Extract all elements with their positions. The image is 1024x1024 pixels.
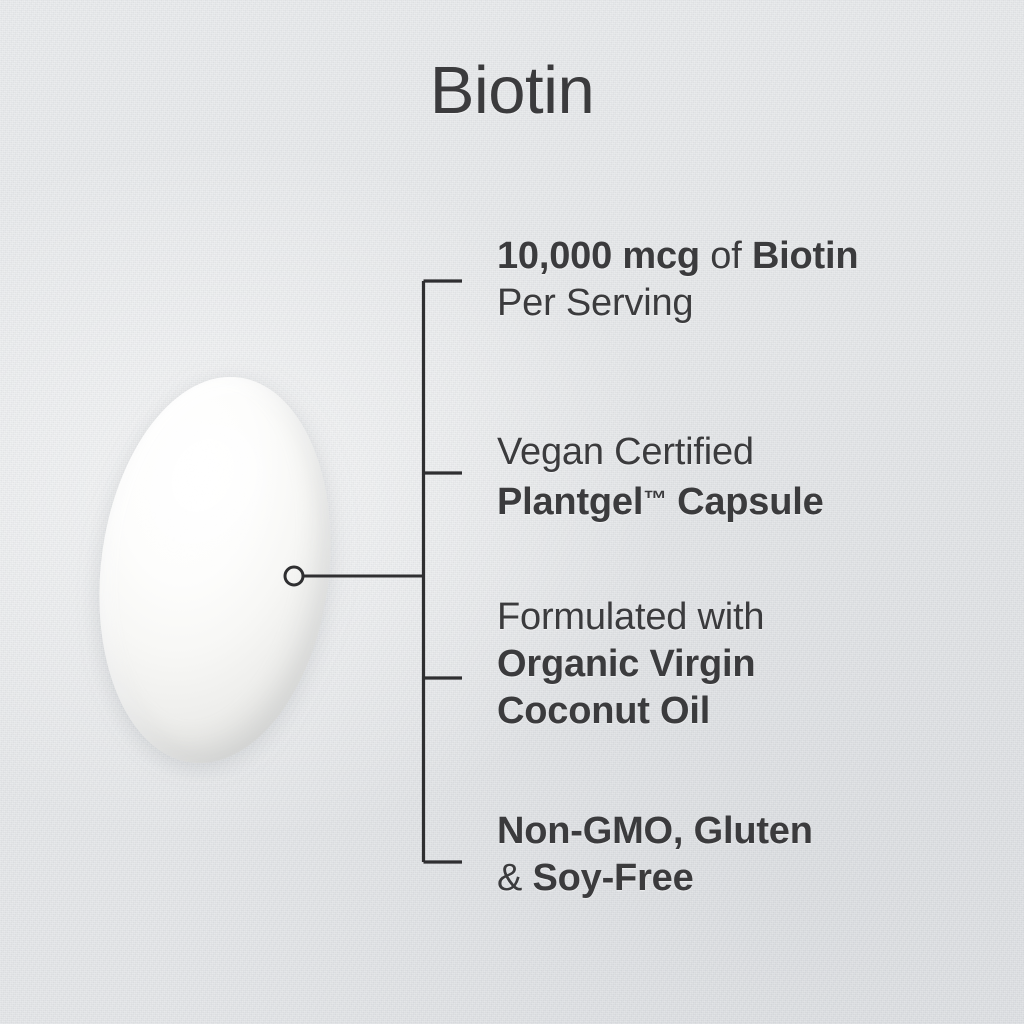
feature-text: Per Serving — [497, 282, 693, 324]
capsule-image — [96, 370, 336, 770]
feature-line: Coconut Oil — [497, 688, 764, 735]
feature-line: Formulated with — [497, 594, 764, 641]
feature-text: Non-GMO, Gluten — [497, 810, 813, 852]
capsule-body — [78, 364, 352, 777]
feature-text: Biotin — [752, 235, 858, 277]
feature-line: 10,000 mcg of Biotin — [497, 233, 858, 280]
feature-text: Organic Virgin — [497, 643, 755, 685]
capsule-highlight — [118, 402, 290, 589]
feature-text: Plantgel — [497, 481, 643, 523]
feature-line: Plantgel™ Capsule — [497, 476, 824, 526]
feature-text: Capsule — [667, 481, 824, 523]
feature-text: Coconut Oil — [497, 690, 710, 732]
feature-text: Soy-Free — [533, 857, 694, 899]
feature-line: Non-GMO, Gluten — [497, 808, 813, 855]
feature-text: Formulated with — [497, 596, 764, 638]
feature-free-from: Non-GMO, Gluten & Soy-Free — [497, 808, 813, 902]
page-title: Biotin — [0, 57, 1024, 124]
trademark-symbol: ™ — [643, 486, 667, 512]
feature-text: Vegan Certified — [497, 431, 754, 473]
feature-dosage: 10,000 mcg of Biotin Per Serving — [497, 233, 858, 327]
feature-coconut-oil: Formulated with Organic Virgin Coconut O… — [497, 594, 764, 735]
feature-capsule-type: Vegan Certified Plantgel™ Capsule — [497, 429, 824, 526]
feature-line: & Soy-Free — [497, 855, 813, 902]
feature-line: Per Serving — [497, 280, 858, 327]
feature-text: of — [700, 235, 752, 277]
product-infographic: Biotin 10,000 mcg of Biotin Per Se — [0, 0, 1024, 1024]
feature-line: Organic Virgin — [497, 641, 764, 688]
feature-text: 10,000 mcg — [497, 235, 700, 277]
feature-line: Vegan Certified — [497, 429, 824, 476]
feature-text: & — [497, 857, 533, 899]
